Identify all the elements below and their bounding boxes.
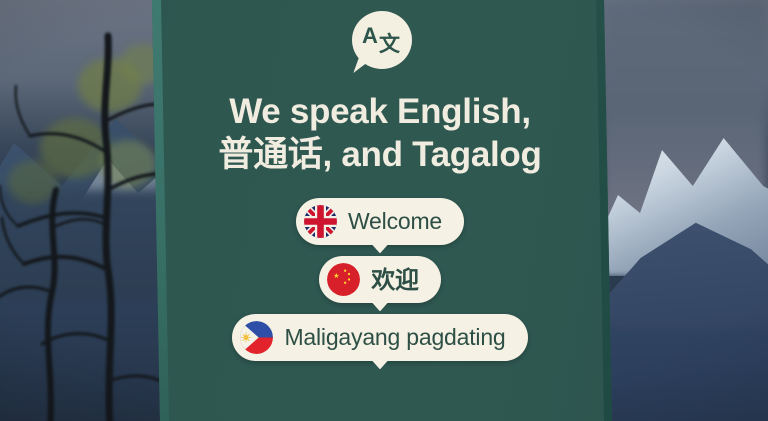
pill-tail: [371, 301, 389, 311]
flag-united-kingdom-icon: [304, 205, 337, 238]
pill-label-english: Welcome: [348, 209, 442, 234]
greeting-pill-english[interactable]: Welcome: [296, 198, 464, 245]
pill-tail: [371, 359, 389, 369]
translate-icon: A 文: [352, 11, 412, 69]
translate-cjk-glyph: 文: [379, 34, 400, 55]
flag-china-icon: [327, 263, 360, 296]
page-title: We speak English, 普通话, and Tagalog: [170, 91, 590, 176]
translate-latin-glyph: A: [362, 25, 378, 47]
pill-label-tagalog: Maligayang pagdating: [284, 325, 505, 350]
greeting-pill-list: Welcome: [152, 198, 608, 372]
heading-line-1: We speak English,: [229, 92, 531, 131]
pill-body[interactable]: Maligayang pagdating: [232, 314, 527, 361]
flag-philippines-icon: [240, 321, 273, 354]
pill-body[interactable]: 欢迎: [319, 256, 441, 303]
greeting-pill-tagalog[interactable]: Maligayang pagdating: [232, 314, 527, 361]
pill-body[interactable]: Welcome: [296, 198, 464, 245]
pill-label-chinese: 欢迎: [371, 267, 419, 293]
heading-line-2-chinese: 普通话: [218, 135, 322, 175]
sign-content: A 文 We speak English, 普通话, and Tagalog: [152, 0, 608, 421]
pill-tail: [371, 243, 389, 253]
heading-line-2-rest: , and Tagalog: [323, 135, 542, 174]
greeting-pill-chinese[interactable]: 欢迎: [319, 256, 441, 303]
translate-bubble: A 文: [348, 11, 412, 77]
